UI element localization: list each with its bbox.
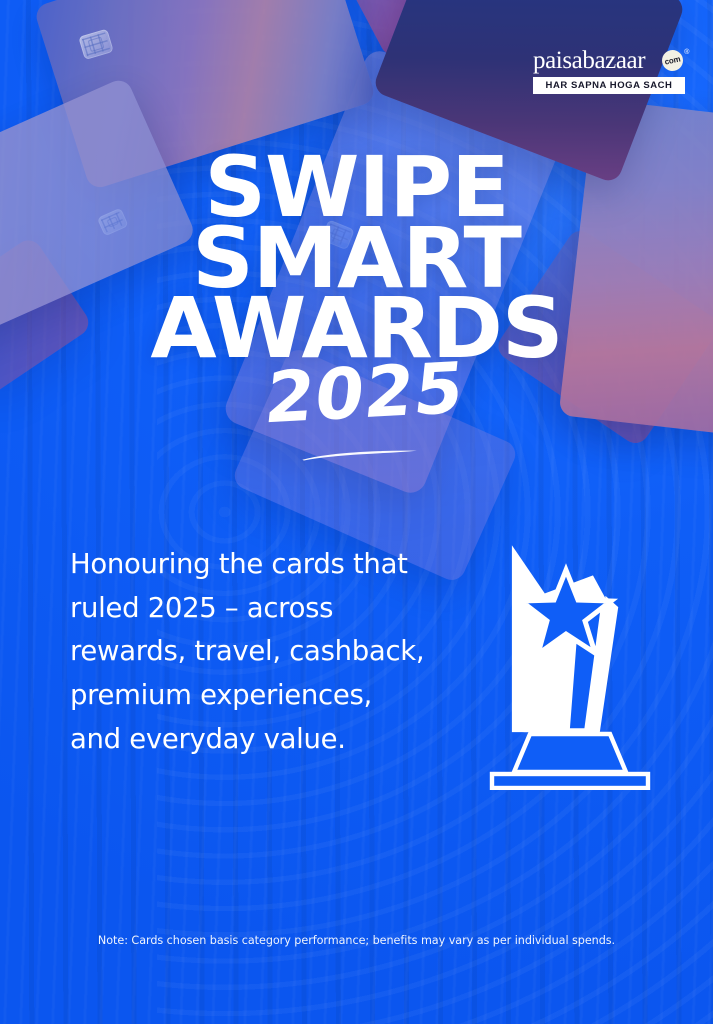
footer-disclaimer-note: Note: Cards chosen basis category perfor… bbox=[0, 934, 713, 947]
emv-chip-icon bbox=[78, 29, 114, 61]
logo-wordmark: paisabazaar com ® bbox=[533, 48, 685, 73]
poster-headline: SWIPE SMART AWARDS 2025 bbox=[0, 152, 713, 464]
paisabazaar-logo[interactable]: paisabazaar com ® HAR SAPNA HOGA SACH bbox=[533, 48, 685, 94]
headline-year: 2025 bbox=[261, 352, 467, 433]
trophy-star-icon bbox=[470, 534, 660, 790]
year-brush-underline-icon bbox=[286, 446, 432, 462]
registered-trademark-icon: ® bbox=[684, 49, 689, 56]
logo-brand-text: paisabazaar bbox=[533, 47, 645, 74]
swipe-smart-awards-poster: paisabazaar com ® HAR SAPNA HOGA SACH SW… bbox=[0, 0, 713, 1024]
headline-year-group: 2025 bbox=[0, 358, 713, 464]
poster-body-copy: Honouring the cards that ruled 2025 – ac… bbox=[70, 543, 430, 762]
logo-tagline: HAR SAPNA HOGA SACH bbox=[533, 77, 685, 94]
logo-dotcom-badge: com bbox=[660, 48, 685, 73]
